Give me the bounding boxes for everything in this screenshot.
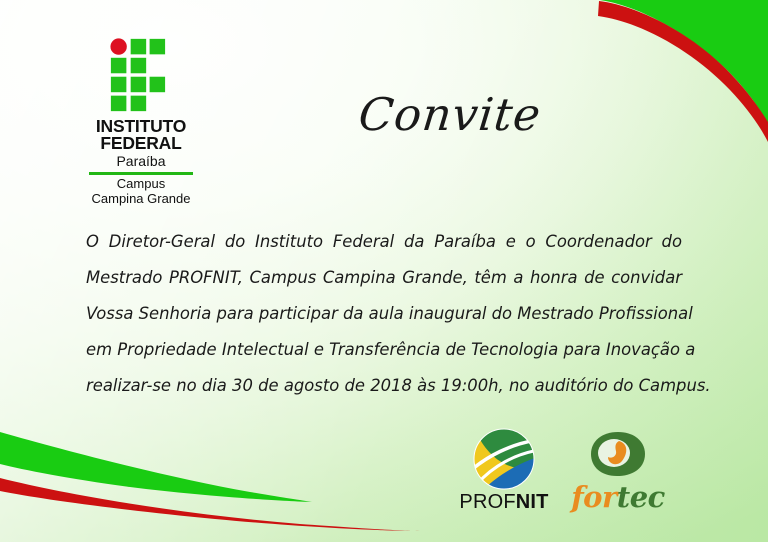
fortec-word-part1: for (571, 480, 617, 514)
profnit-wordmark: PROFNIT (455, 491, 553, 514)
ifpb-grid-mark-icon (104, 38, 178, 112)
ifpb-logo: INSTITUTO FEDERAL Paraíba Campus Campina… (74, 38, 208, 206)
invitation-body: O Diretor-Geral do Instituto Federal da … (86, 224, 682, 404)
profnit-word-regular: PROF (459, 491, 515, 513)
ifpb-divider-rule (89, 172, 193, 175)
ifpb-title-line2: FEDERAL (74, 135, 208, 152)
ifpb-campus-line2: Campina Grande (74, 192, 208, 207)
fortec-leaf-mark-icon (589, 430, 647, 478)
body-line: O Diretor-Geral do Instituto Federal da … (86, 224, 682, 260)
page-title: Convite (327, 88, 573, 141)
profnit-word-bold: NIT (516, 491, 549, 513)
body-line: realizar-se no dia 30 de agosto de 2018 … (86, 368, 682, 404)
body-line: em Propriedade Intelectual e Transferênc… (86, 332, 682, 368)
body-line: Vossa Senhoria para participar da aula i… (86, 296, 682, 332)
body-line: Mestrado PROFNIT, Campus Campina Grande,… (86, 260, 682, 296)
fortec-word-part2: tec (617, 480, 665, 514)
ifpb-campus-line1: Campus (74, 177, 208, 192)
profnit-globe-mark-icon (473, 428, 535, 490)
profnit-logo: PROFNIT (455, 428, 553, 514)
fortec-wordmark: fortec (568, 480, 668, 514)
ifpb-state-label: Paraíba (74, 153, 208, 169)
invitation-card: INSTITUTO FEDERAL Paraíba Campus Campina… (0, 0, 768, 542)
fortec-logo: fortec (568, 430, 668, 514)
